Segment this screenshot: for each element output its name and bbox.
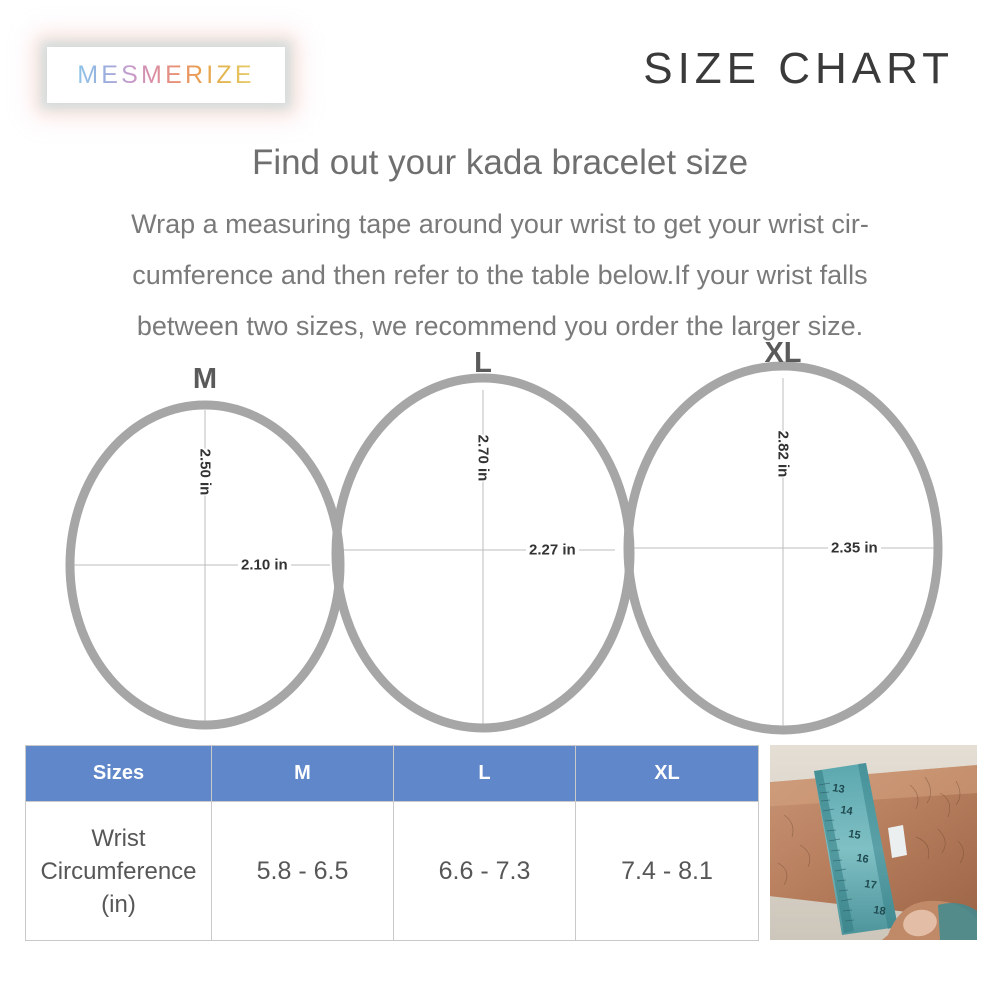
- intro-paragraph-line-2: cumference and then refer to the table b…: [48, 250, 952, 301]
- oval-label-l: L: [474, 347, 492, 380]
- oval-width-label-xl: 2.35 in: [828, 540, 881, 557]
- size-chart-page: MESMERIZE SIZE CHART Find out your kada …: [0, 0, 1000, 1000]
- table-cell-m: 5.8 - 6.5: [212, 802, 394, 941]
- table-row-label-line-2: Circumference: [40, 858, 196, 885]
- oval-label-m: M: [193, 363, 217, 396]
- table-header-l: L: [394, 746, 576, 802]
- table-cell-xl: 7.4 - 8.1: [576, 802, 759, 941]
- tape-tail: [938, 903, 977, 940]
- table-header-xl: XL: [576, 746, 759, 802]
- table-header-sizes: Sizes: [26, 746, 212, 802]
- brand-logo-text: MESMERIZE: [77, 61, 254, 90]
- wrist-photo-illustration: 13 14 15 16 17 18: [770, 745, 977, 940]
- oval-width-label-m: 2.10 in: [238, 557, 291, 574]
- table-row-label-line-1: Wrist: [91, 825, 145, 852]
- table-row-label-line-3: (in): [101, 891, 136, 918]
- oval-height-label-l: 2.70 in: [472, 435, 495, 482]
- table-row: Wrist Circumference (in) 5.8 - 6.5 6.6 -…: [26, 802, 759, 941]
- intro-paragraph-line-3: between two sizes, we recommend you orde…: [48, 301, 952, 352]
- oval-label-xl: XL: [764, 337, 801, 370]
- intro-paragraph: Wrap a measuring tape around your wrist …: [48, 199, 952, 352]
- tape-number-18: 18: [873, 904, 887, 918]
- oval-width-label-l: 2.27 in: [526, 542, 579, 559]
- table-cell-l: 6.6 - 7.3: [394, 802, 576, 941]
- headline: Find out your kada bracelet size: [0, 143, 1000, 183]
- brand-logo: MESMERIZE: [47, 47, 285, 103]
- table-header-row: Sizes M L XL: [26, 746, 759, 802]
- oval-height-label-m: 2.50 in: [194, 449, 217, 496]
- tape-number-13: 13: [832, 782, 846, 796]
- tape-number-17: 17: [864, 878, 878, 892]
- oval-height-label-xl: 2.82 in: [772, 431, 795, 478]
- size-table: Sizes M L XL Wrist Circumference (in) 5.…: [25, 745, 759, 941]
- table-row-label: Wrist Circumference (in): [26, 802, 212, 941]
- tape-number-15: 15: [848, 828, 862, 842]
- table-header-m: M: [212, 746, 394, 802]
- bracelet-diagrams: M L XL 2.50 in 2.70 in 2.82 in 2.10 in 2…: [0, 350, 1000, 750]
- tape-number-16: 16: [856, 852, 870, 866]
- wrist-measuring-photo: 13 14 15 16 17 18: [770, 745, 977, 940]
- intro-paragraph-line-1: Wrap a measuring tape around your wrist …: [48, 199, 952, 250]
- page-title: SIZE CHART: [643, 44, 954, 94]
